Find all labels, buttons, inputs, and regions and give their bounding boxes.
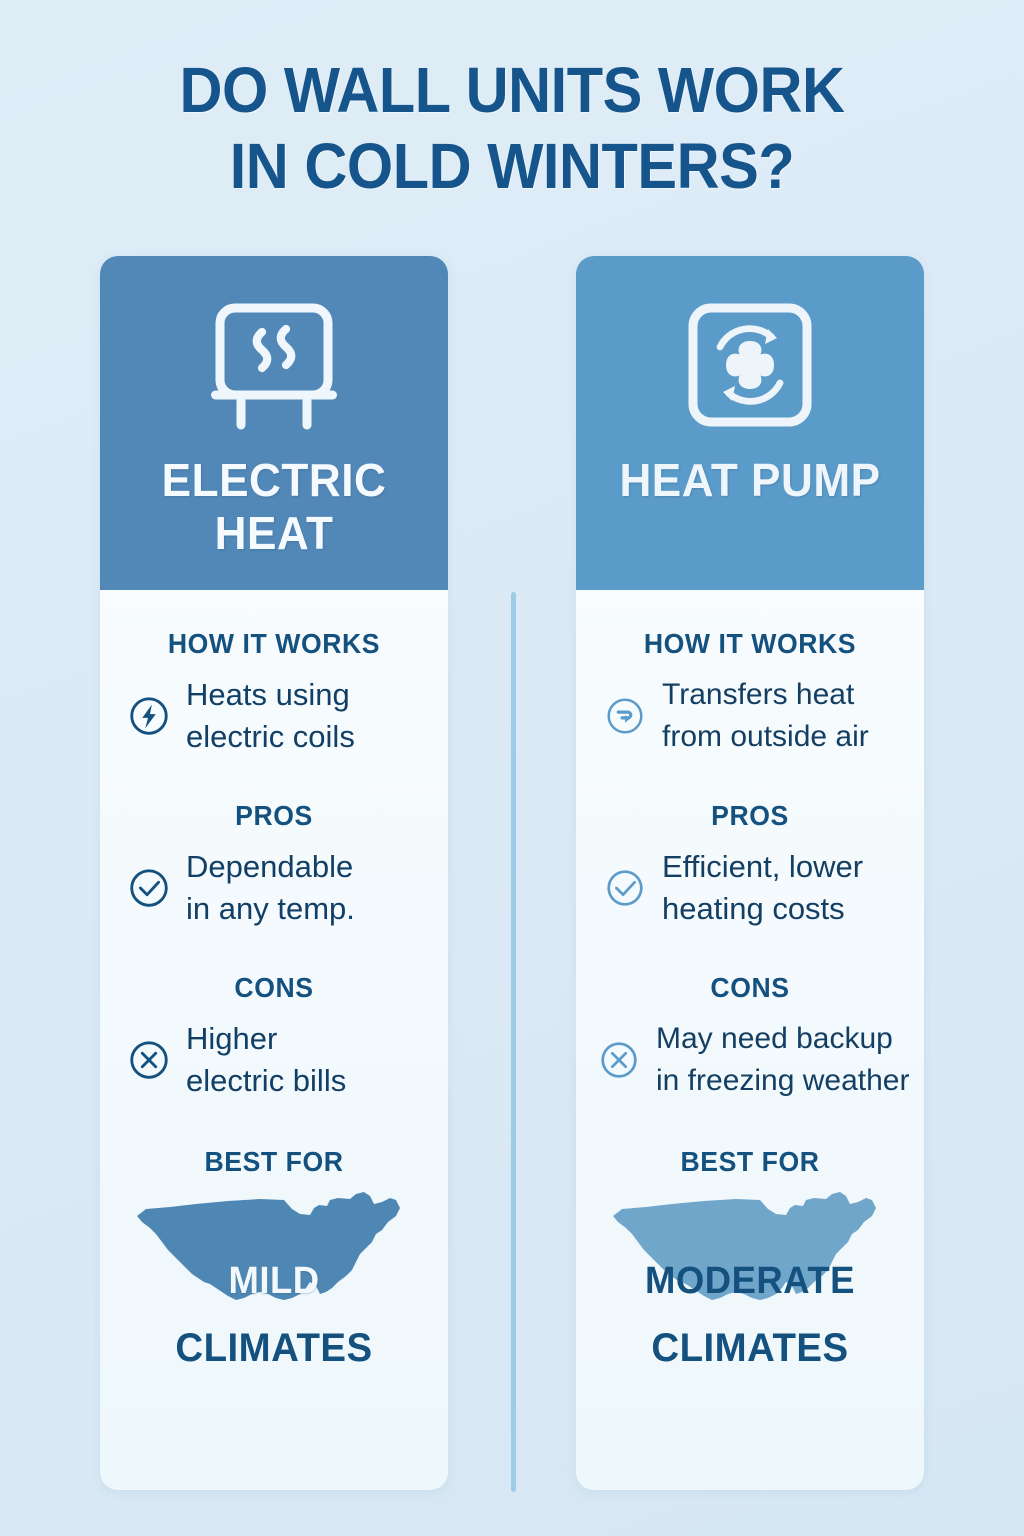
best-for-label-left: MILD [107,1260,441,1303]
row-text-line-1: May need backup [656,1018,909,1060]
page-title-line-1: DO WALL UNITS WORK [36,52,988,128]
section-heading: CONS [109,972,440,1004]
section-row: Heats using electric coils [100,674,448,758]
row-text-line-1: Dependable [186,846,355,888]
row-text-line-1: Efficient, lower [662,846,863,888]
section-best-for-left: BEST FOR MILD CLIMATES [100,1146,448,1412]
section-row: May need backup in freezing weather [576,1018,924,1102]
row-text-line-2: electric coils [186,716,355,758]
card-title-heat-pump: HEAT PUMP [619,454,880,507]
best-for-sublabel-right: CLIMATES [583,1326,917,1371]
section-pros-right: PROS Efficient, lower heating costs [576,800,924,930]
comparison-card-electric-heat: ELECTRIC HEAT HOW IT WORKS Heats using e… [100,256,448,1490]
row-text-line-1: Heats using [186,674,355,716]
section-cons-right: CONS May need backup in freezing weather [576,972,924,1102]
page-title: DO WALL UNITS WORK IN COLD WINTERS? [0,52,1024,204]
card-title-line-1: HEAT PUMP [619,454,880,507]
card-body-heat-pump: HOW IT WORKS Transfers heat from outside… [576,590,924,1412]
vertical-divider [511,592,516,1492]
section-how-it-works-left: HOW IT WORKS Heats using electric coils [100,628,448,758]
section-heading: BEST FOR [109,1146,440,1178]
best-for-map-block-right: MODERATE CLIMATES [576,1182,924,1412]
radiator-heater-icon [199,290,349,440]
card-title-line-2: HEAT [162,507,387,560]
card-header-electric-heat: ELECTRIC HEAT [100,256,448,590]
row-text-line-1: Higher [186,1018,346,1060]
page-title-line-2: IN COLD WINTERS? [36,128,988,204]
section-row: Efficient, lower heating costs [576,846,924,930]
row-text-line-2: electric bills [186,1060,346,1102]
heat-transfer-arrow-circle-icon [602,693,648,739]
section-heading: BEST FOR [585,1146,916,1178]
fan-rotation-circle-icon [675,290,825,440]
card-body-electric-heat: HOW IT WORKS Heats using electric coils … [100,590,448,1412]
best-for-label-right: MODERATE [583,1260,917,1303]
row-text-line-1: Transfers heat [662,674,869,716]
section-heading: PROS [585,800,916,832]
row-text-line-2: from outside air [662,716,869,758]
section-row-text: Transfers heat from outside air [662,674,869,758]
section-pros-left: PROS Dependable in any temp. [100,800,448,930]
section-cons-left: CONS Higher electric bills [100,972,448,1102]
section-heading: PROS [109,800,440,832]
section-heading: HOW IT WORKS [109,628,440,660]
section-row-text: Heats using electric coils [186,674,355,758]
card-header-heat-pump: HEAT PUMP [576,256,924,590]
section-heading: HOW IT WORKS [585,628,916,660]
card-title-line-1: ELECTRIC [162,454,387,507]
check-circle-icon [602,865,648,911]
section-row-text: Dependable in any temp. [186,846,355,930]
best-for-map-block-left: MILD CLIMATES [100,1182,448,1412]
comparison-card-heat-pump: HEAT PUMP HOW IT WORKS Transfers heat fr… [576,256,924,1490]
section-how-it-works-right: HOW IT WORKS Transfers heat from outside… [576,628,924,758]
section-row: Higher electric bills [100,1018,448,1102]
section-row-text: Efficient, lower heating costs [662,846,863,930]
section-heading: CONS [585,972,916,1004]
section-best-for-right: BEST FOR MODERATE CLIMATES [576,1146,924,1412]
check-circle-icon [126,865,172,911]
card-title-electric-heat: ELECTRIC HEAT [162,454,387,560]
section-row-text: Higher electric bills [186,1018,346,1102]
row-text-line-2: heating costs [662,888,863,930]
row-text-line-2: in any temp. [186,888,355,930]
section-row: Transfers heat from outside air [576,674,924,758]
row-text-line-2: in freezing weather [656,1060,909,1102]
lightning-bolt-circle-icon [126,693,172,739]
x-circle-icon [126,1037,172,1083]
x-circle-icon [596,1037,642,1083]
best-for-sublabel-left: CLIMATES [107,1326,441,1371]
section-row-text: May need backup in freezing weather [656,1018,909,1102]
section-row: Dependable in any temp. [100,846,448,930]
